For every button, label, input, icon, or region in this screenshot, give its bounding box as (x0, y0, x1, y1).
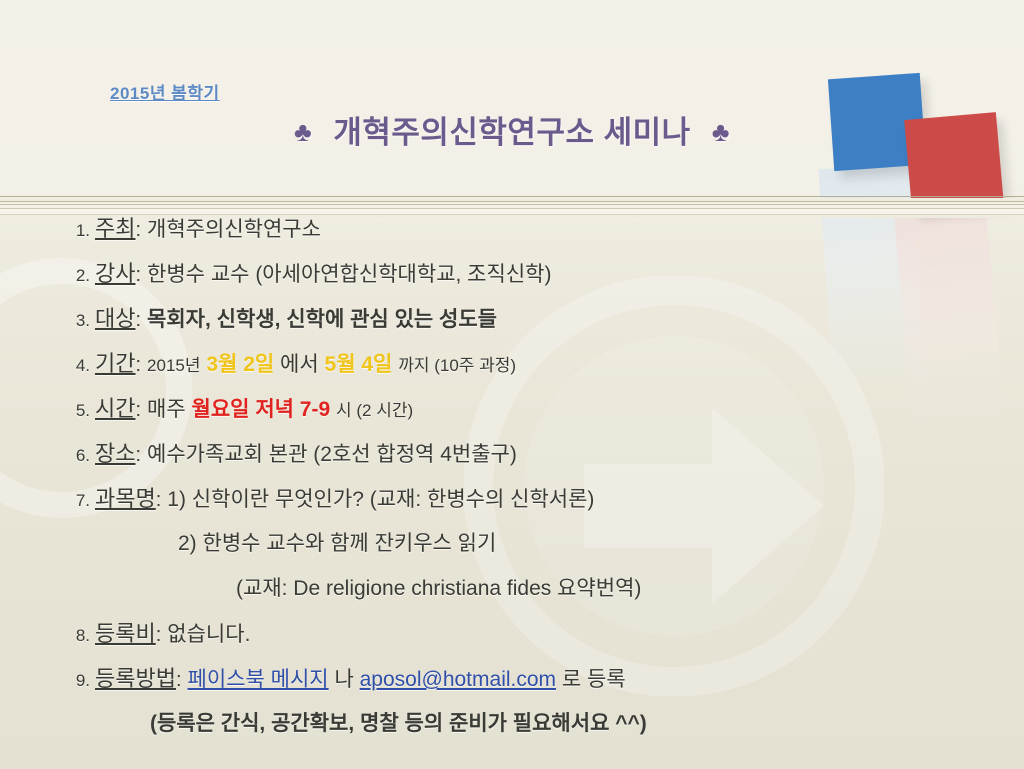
registration-post: 로 등록 (562, 668, 626, 691)
list-item-host: 1. 주최 : 개혁주의신학연구소 (68, 218, 948, 260)
list-item-number: 7. (68, 492, 90, 509)
list-item-fee: 8. 등록비 : 없습니다. (68, 623, 948, 665)
list-item-value: 목회자, 신학생, 신학에 관심 있는 성도들 (147, 309, 497, 330)
slide-canvas: 2015년 봄학기 ♣ 개혁주의신학연구소 세미나 ♣ 1. 주최 : 개혁주의… (0, 0, 1024, 769)
list-item-label: 강사 (95, 263, 135, 285)
course-2-note-row: (교재: De religione christiana fides 요약번역) (68, 578, 948, 620)
list-item-value: 한병수 교수 (아세아연합신학대학교, 조직신학) (147, 264, 551, 285)
list-item-number: 6. (68, 447, 90, 464)
period-start-date: 3월 2일 (206, 353, 274, 376)
list-item-number: 3. (68, 312, 90, 329)
list-item-value: 2015년 3월 2일 에서 5월 4일 까지 (10주 과정) (147, 354, 516, 375)
course-2-text: 2) 한병수 교수와 함께 잔키우스 읽기 (178, 533, 496, 554)
club-suit-left-icon: ♣ (294, 117, 312, 147)
list-item-colon: : (135, 400, 141, 420)
list-item-number: 4. (68, 357, 90, 374)
registration-note-text: (등록은 간식, 공간확보, 명찰 등의 준비가 필요해서요 ^^) (150, 713, 647, 734)
list-item-label: 과목명 (95, 488, 156, 510)
list-item-number: 9. (68, 672, 90, 689)
period-mid: 에서 (280, 353, 319, 376)
list-item-label: 등록비 (95, 623, 156, 645)
info-list: 1. 주최 : 개혁주의신학연구소 2. 강사 : 한병수 교수 (아세아연합신… (68, 218, 948, 758)
list-item-label: 주최 (95, 218, 135, 240)
page-title: ♣ 개혁주의신학연구소 세미나 ♣ (0, 107, 1024, 152)
registration-mid: 나 (334, 668, 353, 691)
time-highlight: 월요일 저녁 7-9 (192, 398, 331, 421)
list-item-colon: : (135, 445, 141, 465)
list-item-label: 기간 (95, 353, 135, 375)
list-item-audience: 3. 대상 : 목회자, 신학생, 신학에 관심 있는 성도들 (68, 308, 948, 350)
list-item-period: 4. 기간 : 2015년 3월 2일 에서 5월 4일 까지 (10주 과정) (68, 353, 948, 395)
list-item-value: 개혁주의신학연구소 (147, 219, 321, 240)
facebook-message-link[interactable]: 페이스북 메시지 (188, 668, 329, 691)
period-post: 까지 (10주 과정) (398, 356, 516, 375)
list-item-label: 대상 (95, 308, 135, 330)
list-item-label: 장소 (95, 443, 135, 465)
list-item-colon: : (135, 355, 141, 375)
list-item-colon: : (135, 220, 141, 240)
list-item-number: 2. (68, 267, 90, 284)
list-item-value: 없습니다. (167, 624, 250, 645)
list-item-lecturer: 2. 강사 : 한병수 교수 (아세아연합신학대학교, 조직신학) (68, 263, 948, 305)
page-title-text: 개혁주의신학연구소 세미나 (333, 115, 690, 150)
list-item-colon: : (176, 670, 182, 690)
period-end-date: 5월 4일 (325, 353, 393, 376)
list-item-label: 등록방법 (95, 668, 176, 690)
list-item-value: 매주 월요일 저녁 7-9 시 (2 시간) (147, 399, 413, 420)
course-2-row: 2) 한병수 교수와 함께 잔키우스 읽기 (68, 533, 948, 575)
list-item-location: 6. 장소 : 예수가족교회 본관 (2호선 합정역 4번출구) (68, 443, 948, 485)
list-item-colon: : (156, 490, 162, 510)
list-item-registration: 9. 등록방법 : 페이스북 메시지 나 aposol@hotmail.com … (68, 668, 948, 710)
email-link[interactable]: aposol@hotmail.com (360, 668, 556, 691)
registration-note-row: (등록은 간식, 공간확보, 명찰 등의 준비가 필요해서요 ^^) (68, 713, 948, 755)
time-post: 시 (2 시간) (336, 401, 413, 420)
list-item-colon: : (135, 265, 141, 285)
list-item-colon: : (156, 625, 162, 645)
list-item-number: 1. (68, 222, 90, 239)
period-year: 2015년 (147, 356, 200, 375)
semester-kicker: 2015년 봄학기 (110, 79, 220, 104)
course-1-text: 1) 신학이란 무엇인가? (교재: 한병수의 신학서론) (167, 489, 594, 510)
course-2-note-text: (교재: De religione christiana fides 요약번역) (236, 578, 641, 599)
list-item-colon: : (135, 310, 141, 330)
list-item-time: 5. 시간 : 매주 월요일 저녁 7-9 시 (2 시간) (68, 398, 948, 440)
list-item-value: 페이스북 메시지 나 aposol@hotmail.com 로 등록 (188, 669, 626, 690)
list-item-courses: 7. 과목명 : 1) 신학이란 무엇인가? (교재: 한병수의 신학서론) (68, 488, 948, 530)
header-divider (0, 196, 1024, 218)
list-item-label: 시간 (95, 398, 135, 420)
club-suit-right-icon: ♣ (712, 117, 730, 147)
list-item-value: 예수가족교회 본관 (2호선 합정역 4번출구) (147, 444, 517, 465)
list-item-number: 5. (68, 402, 90, 419)
list-item-number: 8. (68, 627, 90, 644)
time-pre: 매주 (147, 398, 186, 421)
